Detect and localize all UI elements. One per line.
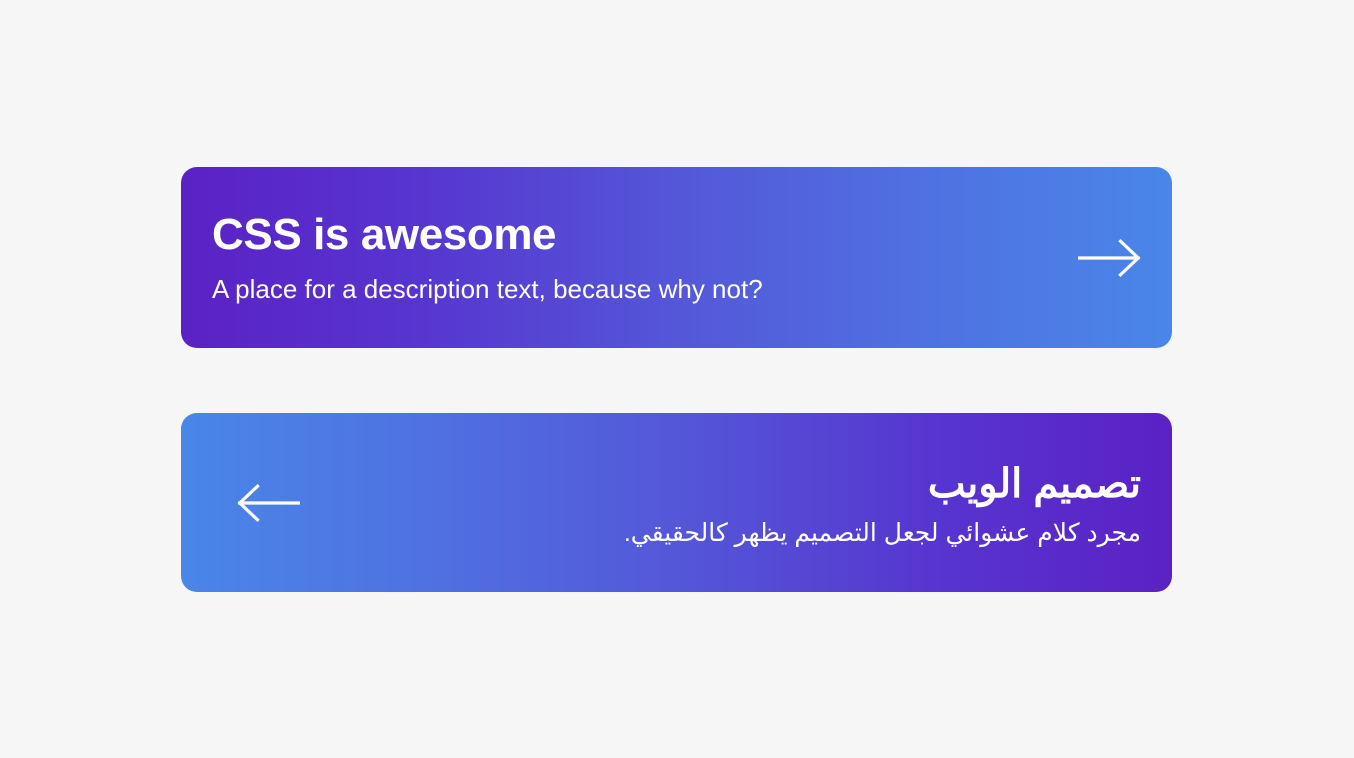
card-css-is-awesome[interactable]: CSS is awesome A place for a description…	[181, 167, 1172, 348]
card-title: CSS is awesome	[212, 211, 1054, 259]
card-text-block: تصميم الويب مجرد كلام عشوائي لجعل التصمي…	[300, 459, 1141, 547]
card-description: A place for a description text, because …	[212, 275, 1054, 304]
arrow-right-icon[interactable]	[1078, 238, 1142, 278]
page-canvas: CSS is awesome A place for a description…	[0, 0, 1354, 758]
arrow-left-icon[interactable]	[236, 483, 300, 523]
card-title: تصميم الويب	[300, 459, 1141, 509]
card-description: مجرد كلام عشوائي لجعل التصميم يظهر كالحق…	[300, 519, 1141, 547]
card-text-block: CSS is awesome A place for a description…	[212, 211, 1054, 305]
card-web-design-arabic[interactable]: تصميم الويب مجرد كلام عشوائي لجعل التصمي…	[181, 413, 1172, 592]
